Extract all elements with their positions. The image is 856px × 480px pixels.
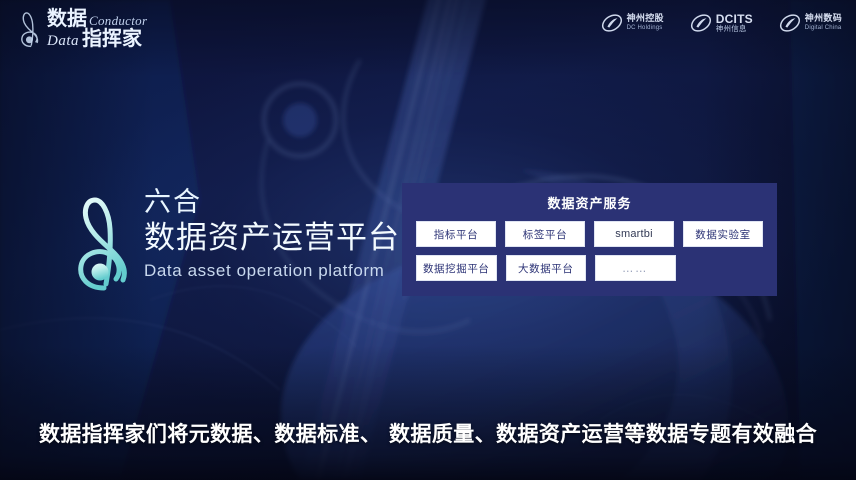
presentation-slide: 数据 Conductor Data 指挥家 神州控股 DC Holdings xyxy=(0,0,856,480)
swirl-logo-icon xyxy=(690,12,712,34)
service-card-data-mining-platform[interactable]: 数据挖掘平台 xyxy=(416,255,497,281)
brand-cn-bottom: 指挥家 xyxy=(82,28,142,48)
service-card-indicator-platform[interactable]: 指标平台 xyxy=(416,221,496,247)
brand-wordmark: 数据 Conductor Data 指挥家 xyxy=(47,7,147,49)
platform-title-english: Data asset operation platform xyxy=(144,261,400,281)
service-card-data-lab[interactable]: 数据实验室 xyxy=(683,221,763,247)
data-asset-service-panel: 数据资产服务 指标平台 标签平台 smartbi 数据实验室 数据挖掘平台 大数… xyxy=(402,183,777,296)
treble-clef-icon xyxy=(70,184,134,296)
partner-name-cn: 神州数码 xyxy=(805,15,842,24)
brand-line-2: Data 指挥家 xyxy=(47,28,147,49)
partner-name-en: Digital China xyxy=(805,25,842,31)
partner-name-en: DC Holdings xyxy=(627,25,664,31)
service-card-row-1: 指标平台 标签平台 smartbi 数据实验室 xyxy=(416,221,763,247)
service-card-big-data-platform[interactable]: 大数据平台 xyxy=(506,255,587,281)
partner-logo-group: 神州控股 DC Holdings DCITS 神州信息 xyxy=(601,12,842,34)
partner-text: DCITS 神州信息 xyxy=(716,13,753,33)
partner-logo-dc-holdings: 神州控股 DC Holdings xyxy=(601,12,664,34)
platform-title-text: 六合 数据资产运营平台 Data asset operation platfor… xyxy=(144,182,400,281)
partner-text: 神州数码 Digital China xyxy=(805,15,842,31)
brand-line-1: 数据 Conductor xyxy=(47,8,147,28)
swirl-logo-icon xyxy=(779,12,801,34)
brand-cn-top: 数据 xyxy=(47,8,87,28)
row-spacer xyxy=(685,255,764,281)
partner-name-en: 神州信息 xyxy=(716,25,753,33)
brand-en-bottom: Data xyxy=(47,34,82,49)
service-panel-title: 数据资产服务 xyxy=(416,193,763,212)
service-card-smartbi[interactable]: smartbi xyxy=(594,221,674,247)
platform-title-main: 数据资产运营平台 xyxy=(144,218,400,258)
partner-logo-digital-china: 神州数码 Digital China xyxy=(779,12,842,34)
service-card-tag-platform[interactable]: 标签平台 xyxy=(505,221,585,247)
platform-title-prefix: 六合 xyxy=(144,188,400,218)
partner-logo-dcits: DCITS 神州信息 xyxy=(690,12,753,34)
service-card-row-2: 数据挖掘平台 大数据平台 …… xyxy=(416,255,763,281)
partner-name-cn: 神州控股 xyxy=(627,15,664,24)
treble-clef-icon xyxy=(16,7,44,49)
service-card-more[interactable]: …… xyxy=(595,255,676,281)
swirl-logo-icon xyxy=(601,12,623,34)
slide-header: 数据 Conductor Data 指挥家 神州控股 DC Holdings xyxy=(0,0,856,56)
partner-text: 神州控股 DC Holdings xyxy=(627,15,664,31)
slide-caption: 数据指挥家们将元数据、数据标准、 数据质量、数据资产运营等数据专题有效融合 xyxy=(0,418,856,448)
platform-title-block: 六合 数据资产运营平台 Data asset operation platfor… xyxy=(70,182,400,296)
brand-logo: 数据 Conductor Data 指挥家 xyxy=(16,7,147,49)
